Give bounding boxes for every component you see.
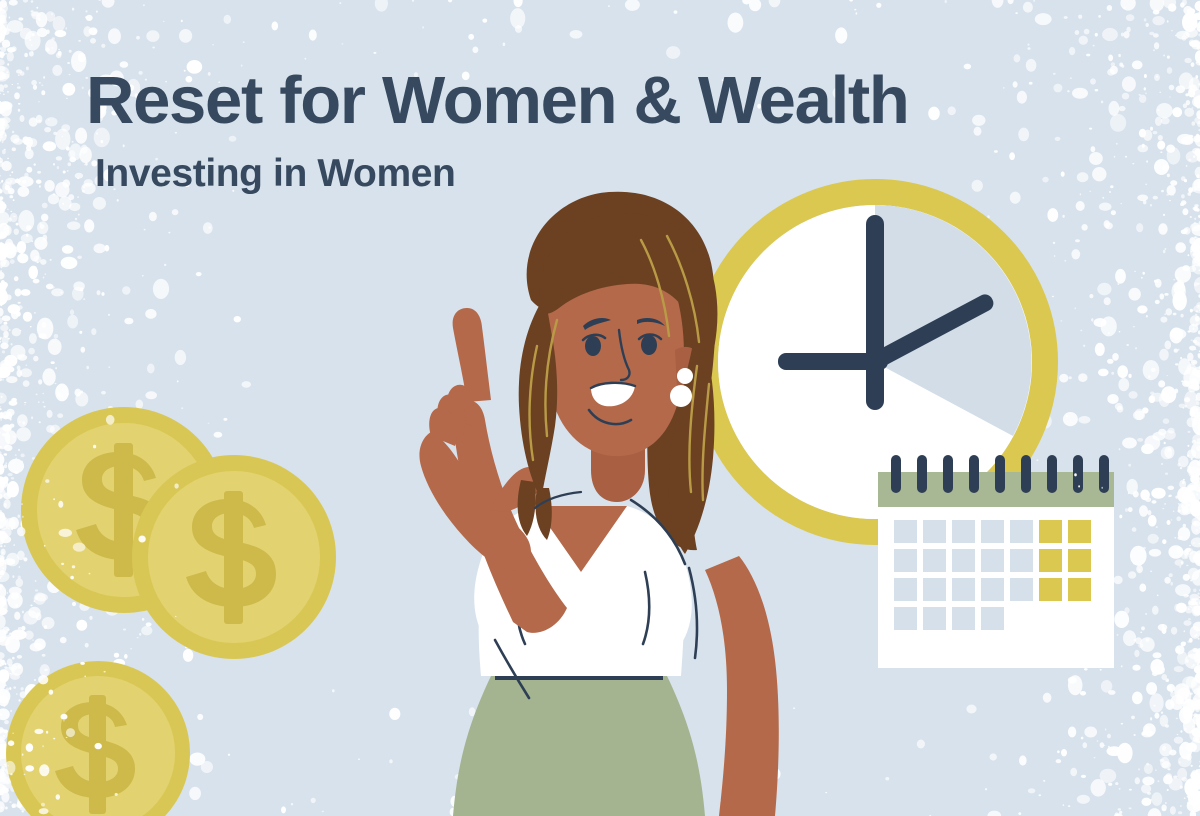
headline-block: Reset for Women & Wealth Investing in Wo… bbox=[86, 66, 909, 195]
page-subtitle: Investing in Women bbox=[95, 154, 909, 195]
poster-canvas: Reset for Women & Wealth Investing in Wo… bbox=[0, 0, 1200, 816]
page-title: Reset for Women & Wealth bbox=[86, 66, 909, 136]
